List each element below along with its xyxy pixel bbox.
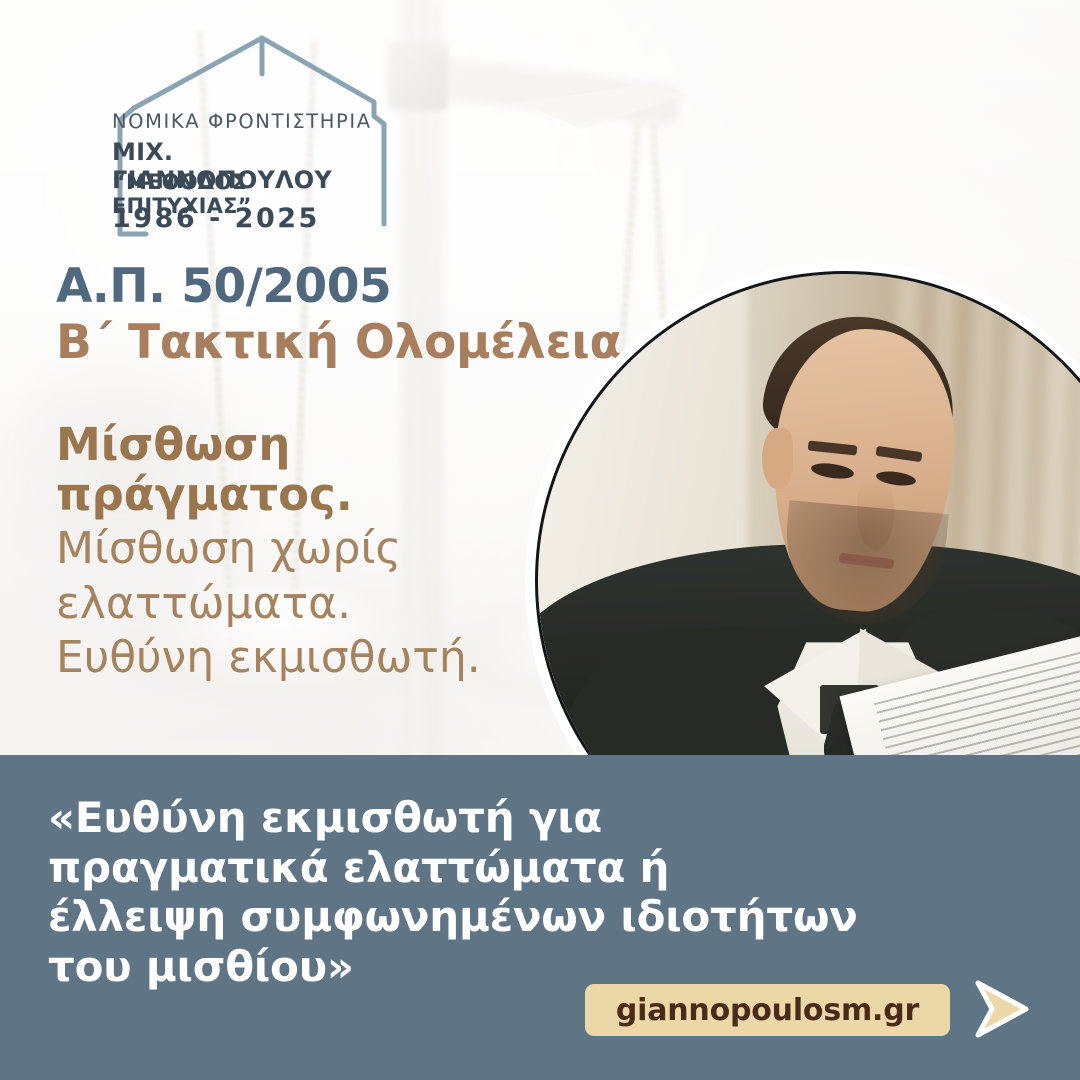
logo-line-subtitle: ΝΟΜΙΚΑ ΦΡΟΝΤΙΣΤΗΡΙΑ — [112, 110, 392, 133]
subject-block: Μίσθωση πράγματος. Μίσθωση χωρίς ελαττώμ… — [56, 420, 526, 685]
subject-detail-line-1: Μίσθωση χωρίς — [56, 523, 526, 576]
quote-line: πραγματικά ελαττώματα ή — [48, 843, 1008, 893]
social-media-post: ΝΟΜΙΚΑ ΦΡΟΝΤΙΣΤΗΡΙΑ ΜΙΧ. ΓΙΑΝΝΟΠΟΥΛΟΥ “Μ… — [0, 0, 1080, 1080]
logo-line-years: 1986 - 2025 — [112, 203, 392, 234]
website-badge[interactable]: giannopoulosm.gr — [585, 984, 950, 1036]
brand-logo: ΝΟΜΙΚΑ ΦΡΟΝΤΙΣΤΗΡΙΑ ΜΙΧ. ΓΙΑΝΝΟΠΟΥΛΟΥ “Μ… — [112, 28, 392, 240]
quote-line: έλλειψη συμφωνημένων ιδιοτήτων — [48, 892, 1008, 942]
quote-text: «Ευθύνη εκμισθωτή για πραγματικά ελαττώμ… — [48, 793, 1008, 991]
chevron-right-icon[interactable] — [968, 977, 1040, 1041]
photo-ear — [762, 428, 793, 489]
subject-detail-line-2: ελαττώματα. — [56, 578, 526, 631]
quote-line: «Ευθύνη εκμισθωτή για — [48, 793, 1008, 843]
website-url-label: giannopoulosm.gr — [616, 993, 919, 1028]
subject-title: Μίσθωση πράγματος. — [56, 420, 526, 521]
subject-detail-line-3: Ευθύνη εκμισθωτή. — [56, 632, 526, 685]
